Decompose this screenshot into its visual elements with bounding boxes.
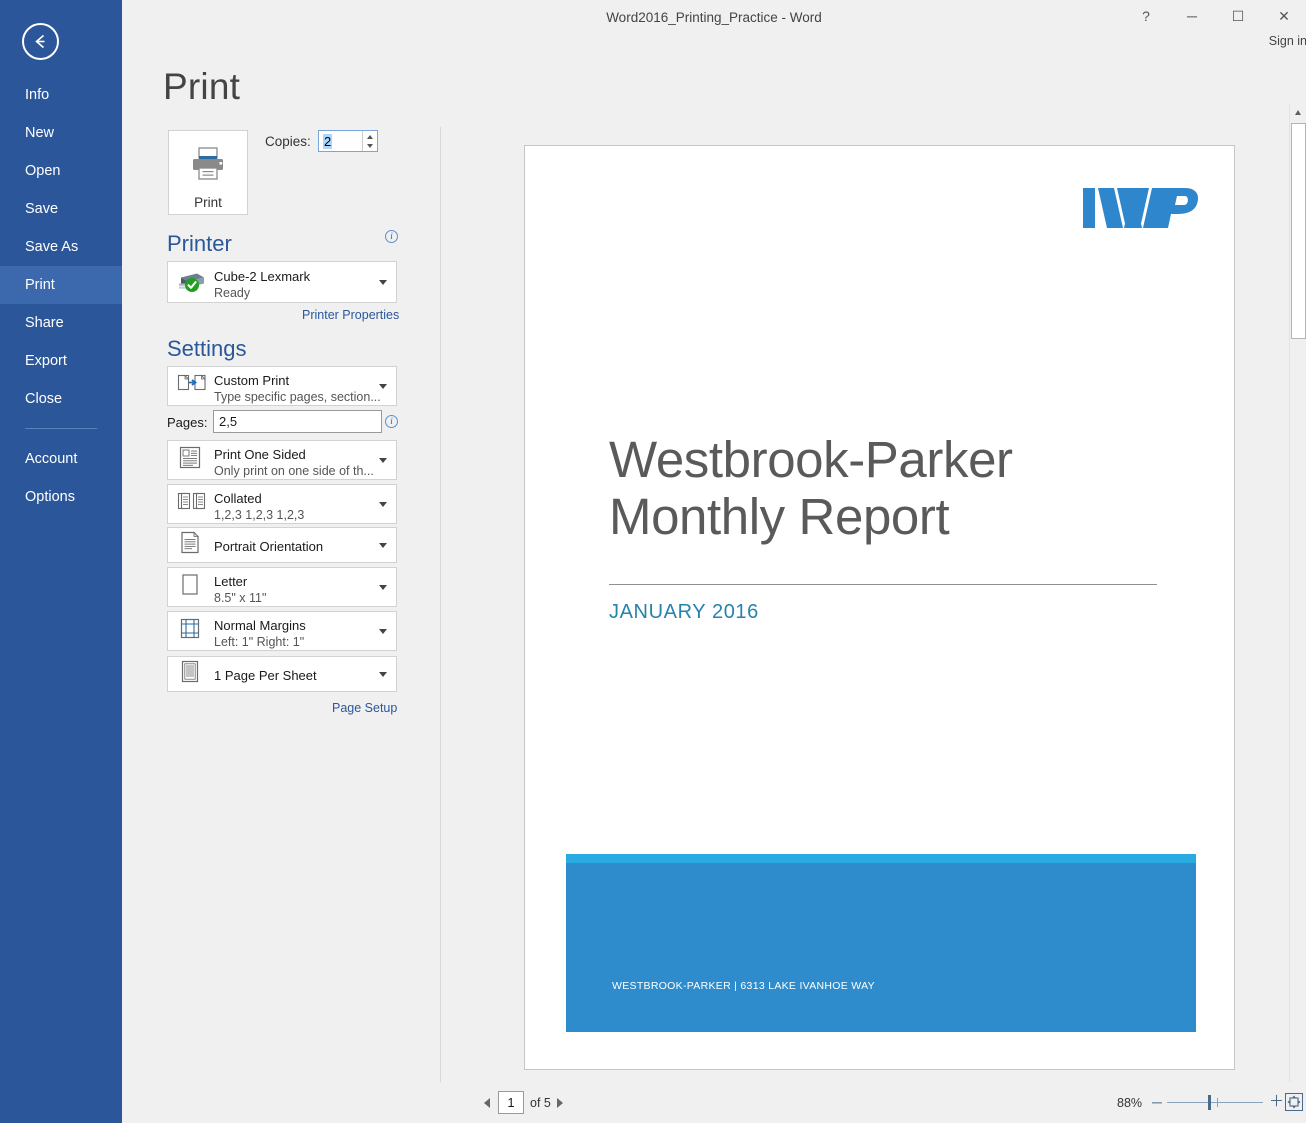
pane-divider bbox=[440, 127, 441, 1082]
setting-title: Letter bbox=[214, 574, 247, 589]
copies-decrement-button[interactable] bbox=[363, 141, 377, 151]
close-icon[interactable]: ✕ bbox=[1261, 0, 1306, 32]
document-footer-text: WESTBROOK-PARKER | 6313 LAKE IVANHOE WAY bbox=[612, 980, 875, 992]
page-setup-link[interactable]: Page Setup bbox=[332, 701, 397, 715]
copies-label: Copies: bbox=[265, 134, 311, 149]
sidebar-item-save-as[interactable]: Save As bbox=[0, 228, 122, 266]
one-sided-icon bbox=[177, 445, 203, 476]
printer-section-heading: Printer bbox=[167, 231, 232, 257]
setting-title: Custom Print bbox=[214, 373, 289, 388]
setting-subtitle: Type specific pages, section... bbox=[214, 390, 381, 404]
maximize-icon[interactable]: ☐ bbox=[1215, 0, 1261, 32]
chevron-down-icon[interactable] bbox=[379, 672, 387, 677]
setting-subtitle: Only print on one side of th... bbox=[214, 464, 374, 478]
setting-pages-per-sheet-select[interactable]: 1 Page Per Sheet bbox=[167, 656, 397, 692]
zoom-slider-tick bbox=[1217, 1098, 1218, 1107]
chevron-down-icon[interactable] bbox=[379, 585, 387, 590]
title-bar: Word2016_Printing_Practice - Word ? ─ ☐ … bbox=[122, 0, 1306, 36]
setting-paper-size-select[interactable]: Letter 8.5" x 11" bbox=[167, 567, 397, 607]
sidebar-item-info[interactable]: Info bbox=[0, 76, 122, 114]
printer-status: Ready bbox=[214, 286, 250, 300]
page-number-input[interactable]: 1 bbox=[498, 1091, 524, 1114]
setting-title: Print One Sided bbox=[214, 447, 306, 462]
chevron-down-icon[interactable] bbox=[379, 502, 387, 507]
portrait-icon bbox=[177, 530, 203, 561]
printer-icon bbox=[169, 145, 247, 188]
chevron-down-icon[interactable] bbox=[379, 543, 387, 548]
pages-per-sheet-icon bbox=[177, 659, 203, 690]
sidebar-item-new[interactable]: New bbox=[0, 114, 122, 152]
printer-name: Cube-2 Lexmark bbox=[214, 269, 310, 284]
zoom-percent-label[interactable]: 88% bbox=[1117, 1096, 1142, 1110]
document-footer-band: WESTBROOK-PARKER | 6313 LAKE IVANHOE WAY bbox=[566, 854, 1196, 1032]
chevron-down-icon[interactable] bbox=[379, 458, 387, 463]
setting-margins-select[interactable]: Normal Margins Left: 1" Right: 1" bbox=[167, 611, 397, 651]
setting-sides-select[interactable]: Print One Sided Only print on one side o… bbox=[167, 440, 397, 480]
backstage-sidebar: Info New Open Save Save As Print Share E… bbox=[0, 0, 122, 1123]
sign-in-button[interactable]: Sign in bbox=[1239, 34, 1306, 48]
chevron-down-icon[interactable] bbox=[379, 384, 387, 389]
setting-title: 1 Page Per Sheet bbox=[214, 668, 317, 683]
sidebar-item-options[interactable]: Options bbox=[0, 478, 122, 516]
setting-subtitle: 8.5" x 11" bbox=[214, 591, 266, 605]
zoom-slider-track[interactable] bbox=[1167, 1102, 1263, 1103]
custom-print-icon bbox=[177, 371, 207, 402]
setting-print-range-select[interactable]: Custom Print Type specific pages, sectio… bbox=[167, 366, 397, 406]
pages-input[interactable]: 2,5 bbox=[213, 410, 382, 433]
document-title: Westbrook-Parker Monthly Report bbox=[609, 431, 1169, 545]
sidebar-item-share[interactable]: Share bbox=[0, 304, 122, 342]
print-button-label: Print bbox=[169, 195, 247, 210]
page-total-label: of 5 bbox=[530, 1096, 551, 1110]
scrollbar-thumb[interactable] bbox=[1291, 123, 1306, 339]
scroll-up-icon[interactable] bbox=[1290, 104, 1306, 121]
next-page-button[interactable] bbox=[554, 1096, 566, 1110]
copies-stepper[interactable]: 2 bbox=[318, 130, 378, 152]
minimize-icon[interactable]: ─ bbox=[1169, 0, 1215, 32]
copies-increment-button[interactable] bbox=[363, 131, 377, 141]
paper-size-icon bbox=[177, 572, 203, 603]
sidebar-item-open[interactable]: Open bbox=[0, 152, 122, 190]
zoom-slider-thumb[interactable] bbox=[1208, 1095, 1211, 1110]
printer-select[interactable]: Cube-2 Lexmark Ready bbox=[167, 261, 397, 303]
help-icon[interactable]: ? bbox=[1123, 0, 1169, 32]
setting-subtitle: Left: 1" Right: 1" bbox=[214, 635, 304, 649]
copies-value[interactable]: 2 bbox=[323, 134, 332, 149]
sidebar-divider bbox=[25, 428, 97, 429]
zoom-to-page-icon[interactable] bbox=[1285, 1093, 1303, 1111]
chevron-down-icon[interactable] bbox=[379, 629, 387, 634]
margins-icon bbox=[177, 616, 203, 647]
print-button[interactable]: Print bbox=[168, 130, 248, 215]
chevron-down-icon[interactable] bbox=[379, 280, 387, 285]
printer-ready-icon bbox=[177, 267, 207, 298]
document-preview-page[interactable]: Westbrook-Parker Monthly Report JANUARY … bbox=[524, 145, 1235, 1070]
settings-section-heading: Settings bbox=[167, 336, 247, 362]
setting-title: Normal Margins bbox=[214, 618, 306, 633]
document-footer-accent-bar bbox=[566, 854, 1196, 863]
zoom-out-button[interactable]: ─ bbox=[1152, 1096, 1162, 1108]
zoom-in-button[interactable]: ＋ bbox=[1269, 1095, 1284, 1109]
preview-scrollbar[interactable] bbox=[1289, 104, 1306, 1099]
pages-info-icon[interactable]: i bbox=[385, 415, 398, 428]
back-arrow-icon[interactable] bbox=[22, 23, 59, 60]
word-backstage-print-screen: Word2016_Printing_Practice - Word ? ─ ☐ … bbox=[0, 0, 1306, 1123]
setting-orientation-select[interactable]: Portrait Orientation bbox=[167, 527, 397, 563]
copies-spin-buttons bbox=[362, 131, 377, 151]
preview-status-bar: 1 of 5 88% ─ ＋ bbox=[440, 1082, 1306, 1123]
printer-info-icon[interactable]: i bbox=[385, 230, 398, 243]
printer-properties-link[interactable]: Printer Properties bbox=[302, 308, 399, 322]
setting-title: Collated bbox=[214, 491, 262, 506]
collated-icon bbox=[177, 489, 207, 520]
document-title-rule bbox=[609, 584, 1157, 585]
setting-collation-select[interactable]: Collated 1,2,3 1,2,3 1,2,3 bbox=[167, 484, 397, 524]
sidebar-item-print[interactable]: Print bbox=[0, 266, 122, 304]
sidebar-item-close[interactable]: Close bbox=[0, 380, 122, 418]
sidebar-item-save[interactable]: Save bbox=[0, 190, 122, 228]
previous-page-button[interactable] bbox=[481, 1096, 493, 1110]
page-title: Print bbox=[163, 66, 240, 108]
document-subtitle: JANUARY 2016 bbox=[609, 601, 759, 624]
sidebar-item-account[interactable]: Account bbox=[0, 440, 122, 478]
setting-title: Portrait Orientation bbox=[214, 539, 323, 554]
sidebar-item-export[interactable]: Export bbox=[0, 342, 122, 380]
company-logo-icon bbox=[1081, 184, 1203, 237]
setting-subtitle: 1,2,3 1,2,3 1,2,3 bbox=[214, 508, 304, 522]
pages-label: Pages: bbox=[167, 415, 207, 430]
